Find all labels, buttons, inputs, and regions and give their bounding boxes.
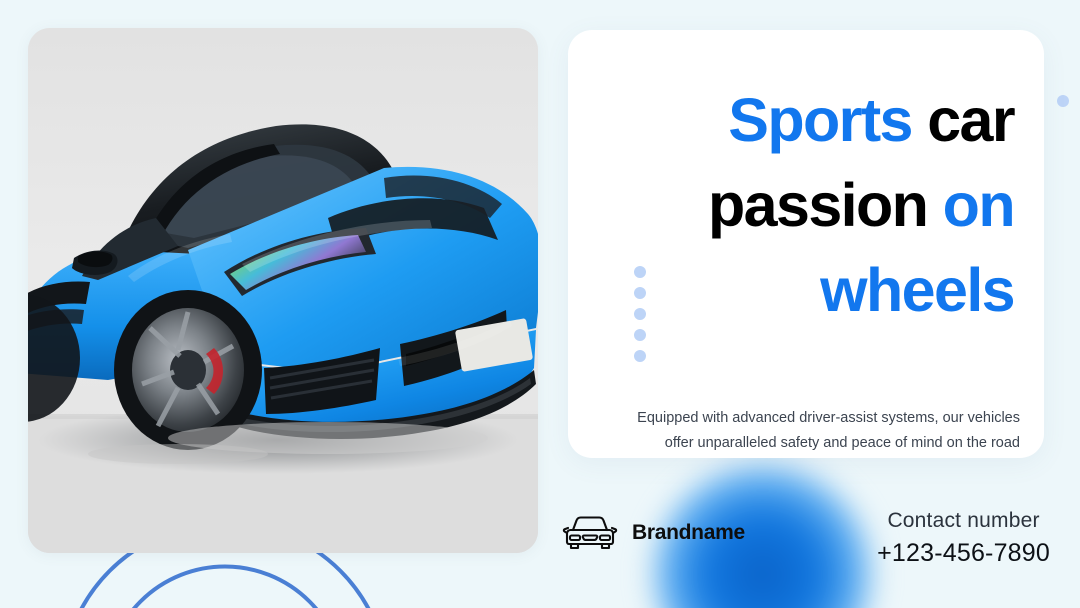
arc-middle (104, 565, 347, 608)
brand-lockup[interactable]: Brandname (562, 513, 745, 553)
contact-label: Contact number (877, 506, 1050, 536)
hero-car-image (28, 28, 538, 553)
bullet-dot (634, 308, 646, 320)
page-title: Sports car passion on wheels (610, 78, 1014, 333)
edge-dot-decoration (1057, 95, 1069, 107)
brand-name: Brandname (632, 521, 745, 545)
bullet-dot (634, 329, 646, 341)
headline-word-on: on (943, 171, 1014, 239)
headline-word-car: car (912, 86, 1014, 154)
car-front-icon (562, 513, 618, 553)
body-copy: Equipped with advanced driver-assist sys… (620, 406, 1020, 456)
contact-number[interactable]: +123-456-7890 (877, 536, 1050, 570)
headline-word-wheels: wheels (820, 256, 1014, 324)
bullet-dot (634, 350, 646, 362)
headline-word-passion: passion (708, 171, 943, 239)
bullet-dots-decoration (634, 266, 646, 362)
contact-block[interactable]: Contact number +123-456-7890 (877, 506, 1050, 570)
car-illustration (28, 28, 538, 553)
bullet-dot (634, 287, 646, 299)
headline-word-sports: Sports (728, 86, 912, 154)
bullet-dot (634, 266, 646, 278)
poster-canvas: Sports car passion on wheels Equipped wi… (0, 0, 1080, 608)
headline-card: Sports car passion on wheels Equipped wi… (568, 30, 1044, 458)
